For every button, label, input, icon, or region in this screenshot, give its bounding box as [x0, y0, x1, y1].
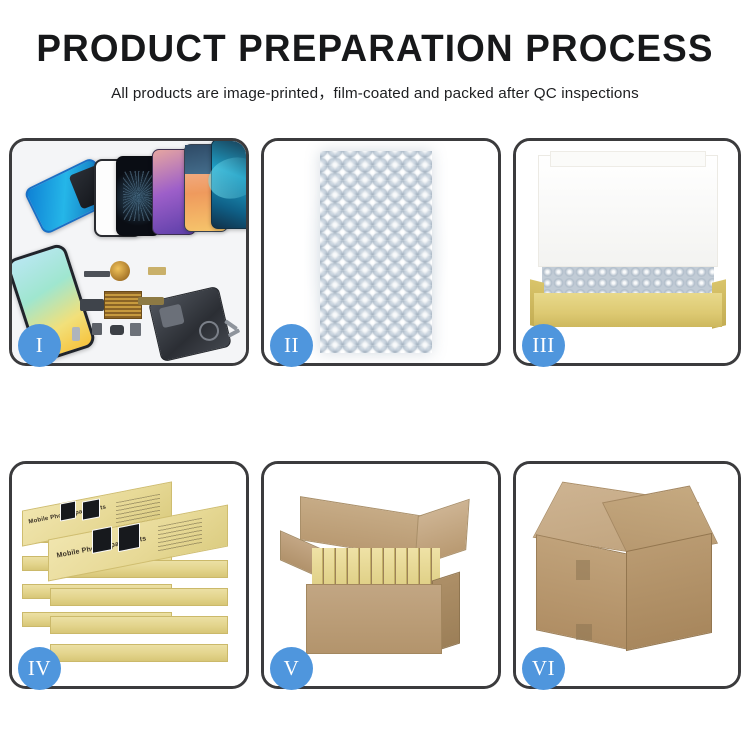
stacked-box-f4 — [50, 644, 228, 662]
step-badge-1: I — [18, 324, 61, 367]
cyan-phone-screen-icon — [211, 141, 246, 229]
box-screen-rear-2 — [82, 498, 100, 520]
inner-box-lid-icon — [538, 155, 718, 267]
page-subtitle: All products are image-printed，film-coat… — [0, 81, 750, 103]
small-part-4-icon — [72, 327, 80, 341]
step-panel-5[interactable]: V — [261, 461, 501, 689]
step-badge-5: V — [270, 647, 313, 690]
carton-tape-icon — [576, 560, 590, 580]
small-part-icon — [92, 323, 102, 335]
part-strip-icon — [84, 271, 110, 277]
step-panel-4[interactable]: Mobile Phone Spare Parts Mobile Phone Sp… — [9, 461, 249, 689]
box-screen-front-1 — [92, 526, 112, 554]
sealed-carton-right-face-icon — [626, 533, 712, 651]
carton-tape-2-icon — [576, 624, 592, 640]
step-panel-3[interactable]: III — [513, 138, 741, 366]
step-badge-4: IV — [18, 647, 61, 690]
inner-box-lid-top-icon — [550, 151, 706, 167]
product-preparation-page: PRODUCT PREPARATION PROCESS All products… — [0, 0, 750, 750]
flex-cable-icon — [80, 299, 104, 311]
step-badge-2: II — [270, 324, 313, 367]
copper-coil-icon — [110, 261, 130, 281]
stacked-box-f3 — [50, 616, 228, 634]
logic-board-icon — [104, 291, 142, 319]
inner-box-front-icon — [534, 293, 722, 327]
step-panel-1[interactable]: I — [9, 138, 249, 366]
process-steps-grid: I II III — [9, 138, 741, 689]
small-part-2-icon — [110, 325, 124, 335]
part-bracket-icon — [148, 267, 166, 275]
stacked-box-f2 — [50, 588, 228, 606]
small-part-3-icon — [130, 323, 141, 336]
step-panel-6[interactable]: VI — [513, 461, 741, 689]
step-badge-6: VI — [522, 647, 565, 690]
inner-box-bubble-fill-icon — [542, 267, 714, 295]
page-title: PRODUCT PREPARATION PROCESS — [11, 30, 739, 70]
step-badge-3: III — [522, 324, 565, 367]
box-screen-front-2 — [118, 523, 140, 552]
step-panel-2[interactable]: II — [261, 138, 501, 366]
flex-cable-2-icon — [138, 297, 164, 305]
screw-2-icon — [228, 328, 240, 337]
page-header: PRODUCT PREPARATION PROCESS All products… — [0, 0, 750, 103]
bubble-wrap-icon — [320, 151, 432, 353]
carton-front-icon — [306, 584, 442, 654]
box-screen-rear-1 — [60, 500, 76, 521]
